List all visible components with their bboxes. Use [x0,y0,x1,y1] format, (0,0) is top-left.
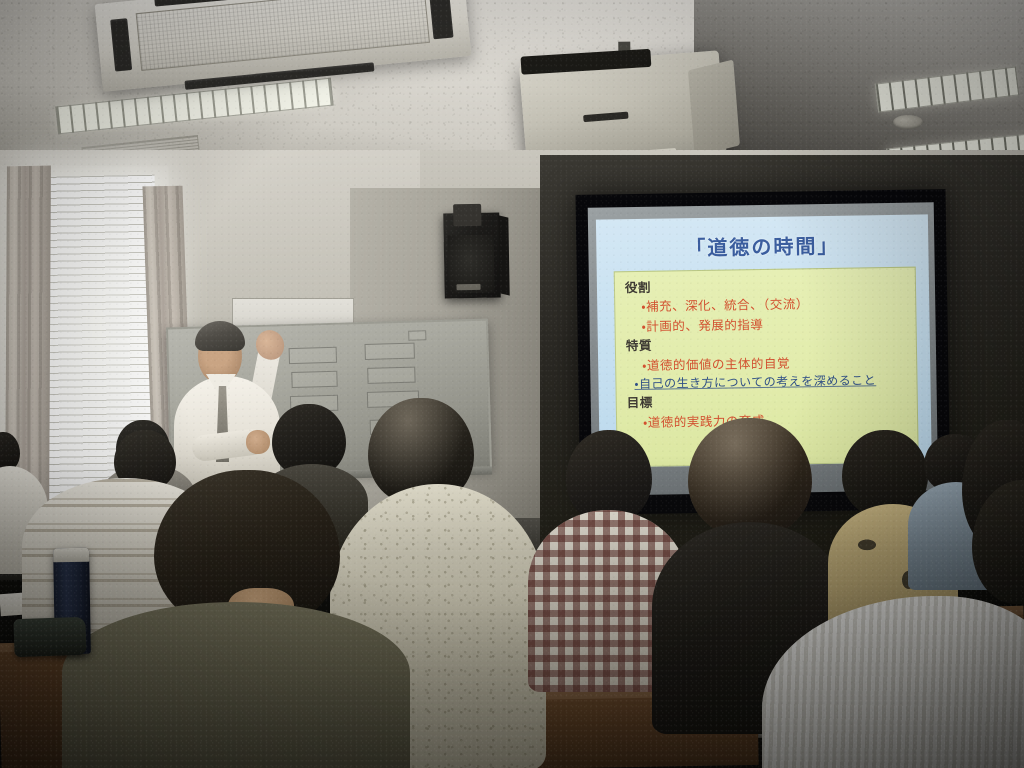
projector-side-panel [688,60,740,157]
attendee-torso [762,596,1024,768]
pencil-pouch[interactable] [13,617,86,657]
slide-title: 「道徳の時間」 [596,228,928,262]
whiteboard-card [408,330,426,340]
attendee-head [688,418,812,536]
ceiling-speaker-dome [893,115,923,129]
thermos-cap [53,548,89,563]
speaker-bracket [453,204,481,226]
attendee-white-ribbed [762,566,1024,768]
whiteboard-card [365,343,415,360]
ac-grille [136,0,430,71]
ac-louver-right [429,0,454,39]
projector-lens [583,112,628,123]
attendee-olive-top [62,470,414,768]
speaker-side-panel [498,215,509,295]
attendee-torso [62,602,410,768]
whiteboard-card [367,367,415,384]
presenter-hair [195,321,245,351]
seminar-room-photo: 「道徳の時間」 役割 ・補充、深化、統合、（交流） ・計画的、発展的指導 特質 … [0,0,1024,768]
recessed-fluorescent-light-3 [875,66,1019,112]
speaker-logo [456,284,480,290]
wall-mounted-loudspeaker [443,213,500,299]
attendee-head [566,430,652,522]
ac-louver-left [110,18,132,71]
ribbed-fabric-pattern [762,596,1024,768]
